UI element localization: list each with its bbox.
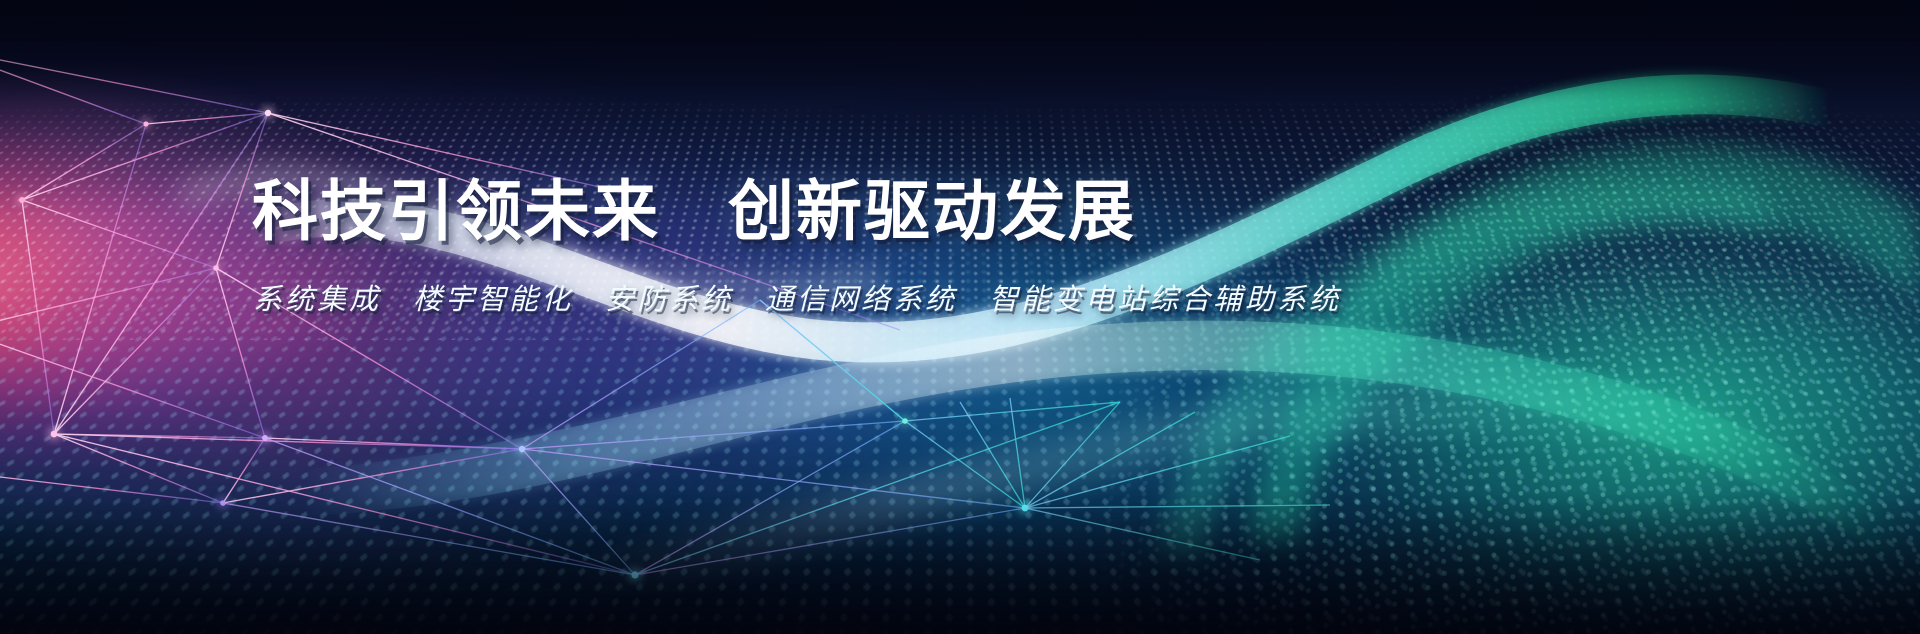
banner-headline: 科技引领未来 创新驱动发展 — [252, 178, 1136, 244]
banner-copy: 科技引领未来 创新驱动发展 系统集成 楼宇智能化 安防系统 通信网络系统 智能变… — [0, 0, 1920, 634]
banner-root: 科技引领未来 创新驱动发展 系统集成 楼宇智能化 安防系统 通信网络系统 智能变… — [0, 0, 1920, 634]
banner-subline: 系统集成 楼宇智能化 安防系统 通信网络系统 智能变电站综合辅助系统 — [253, 286, 1341, 315]
